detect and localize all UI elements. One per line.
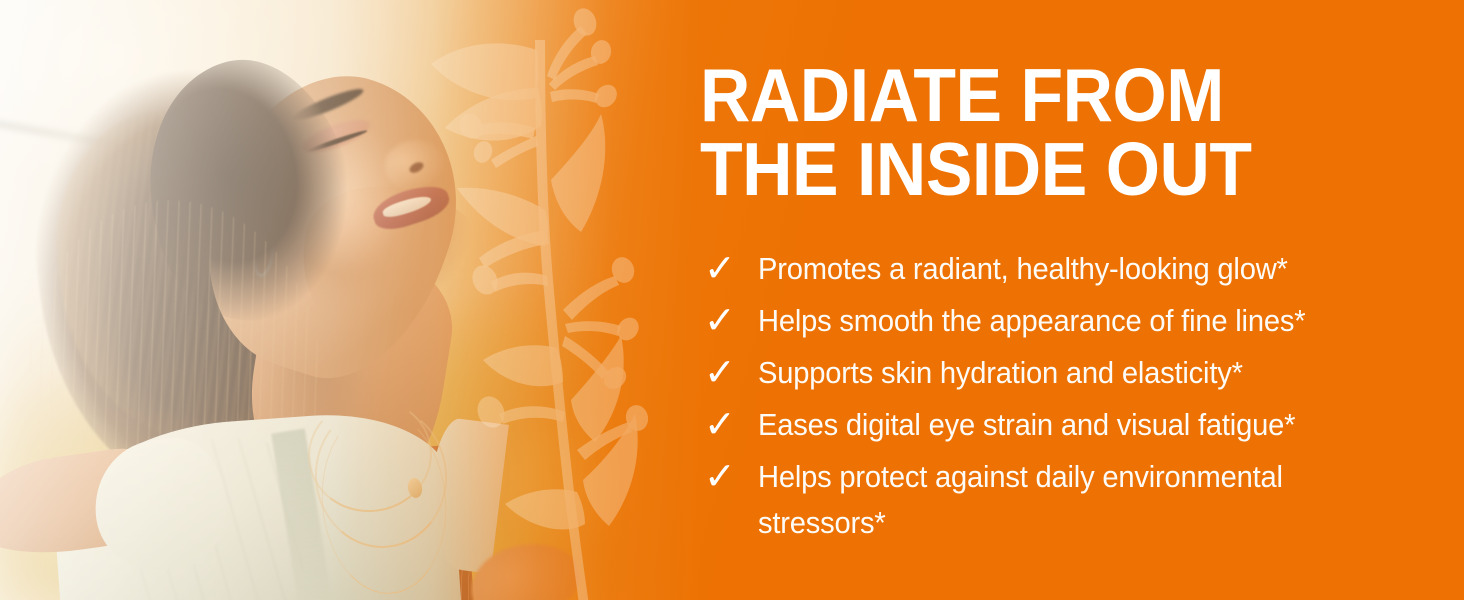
check-icon: ✓ xyxy=(700,402,758,448)
photo-orange-fade xyxy=(330,0,700,600)
lifestyle-photo xyxy=(0,0,700,600)
list-item: ✓ Promotes a radiant, healthy-looking gl… xyxy=(700,246,1430,292)
benefit-text: Helps protect against daily environmenta… xyxy=(758,454,1400,546)
benefits-list: ✓ Promotes a radiant, healthy-looking gl… xyxy=(700,246,1430,552)
check-icon: ✓ xyxy=(700,350,758,396)
check-icon: ✓ xyxy=(700,454,758,500)
list-item: ✓ Supports skin hydration and elasticity… xyxy=(700,350,1430,396)
benefit-text: Eases digital eye strain and visual fati… xyxy=(758,402,1295,448)
benefit-text: Promotes a radiant, healthy-looking glow… xyxy=(758,246,1288,292)
list-item: ✓ Eases digital eye strain and visual fa… xyxy=(700,402,1430,448)
page-title: RADIATE FROM THE INSIDE OUT xyxy=(700,58,1252,206)
list-item: ✓ Helps smooth the appearance of fine li… xyxy=(700,298,1430,344)
text-panel: RADIATE FROM THE INSIDE OUT ✓ Promotes a… xyxy=(700,0,1464,600)
check-icon: ✓ xyxy=(700,298,758,344)
benefit-text: Helps smooth the appearance of fine line… xyxy=(758,298,1305,344)
product-banner: RADIATE FROM THE INSIDE OUT ✓ Promotes a… xyxy=(0,0,1464,600)
benefit-text: Supports skin hydration and elasticity* xyxy=(758,350,1243,396)
list-item: ✓ Helps protect against daily environmen… xyxy=(700,454,1430,546)
check-icon: ✓ xyxy=(700,246,758,292)
